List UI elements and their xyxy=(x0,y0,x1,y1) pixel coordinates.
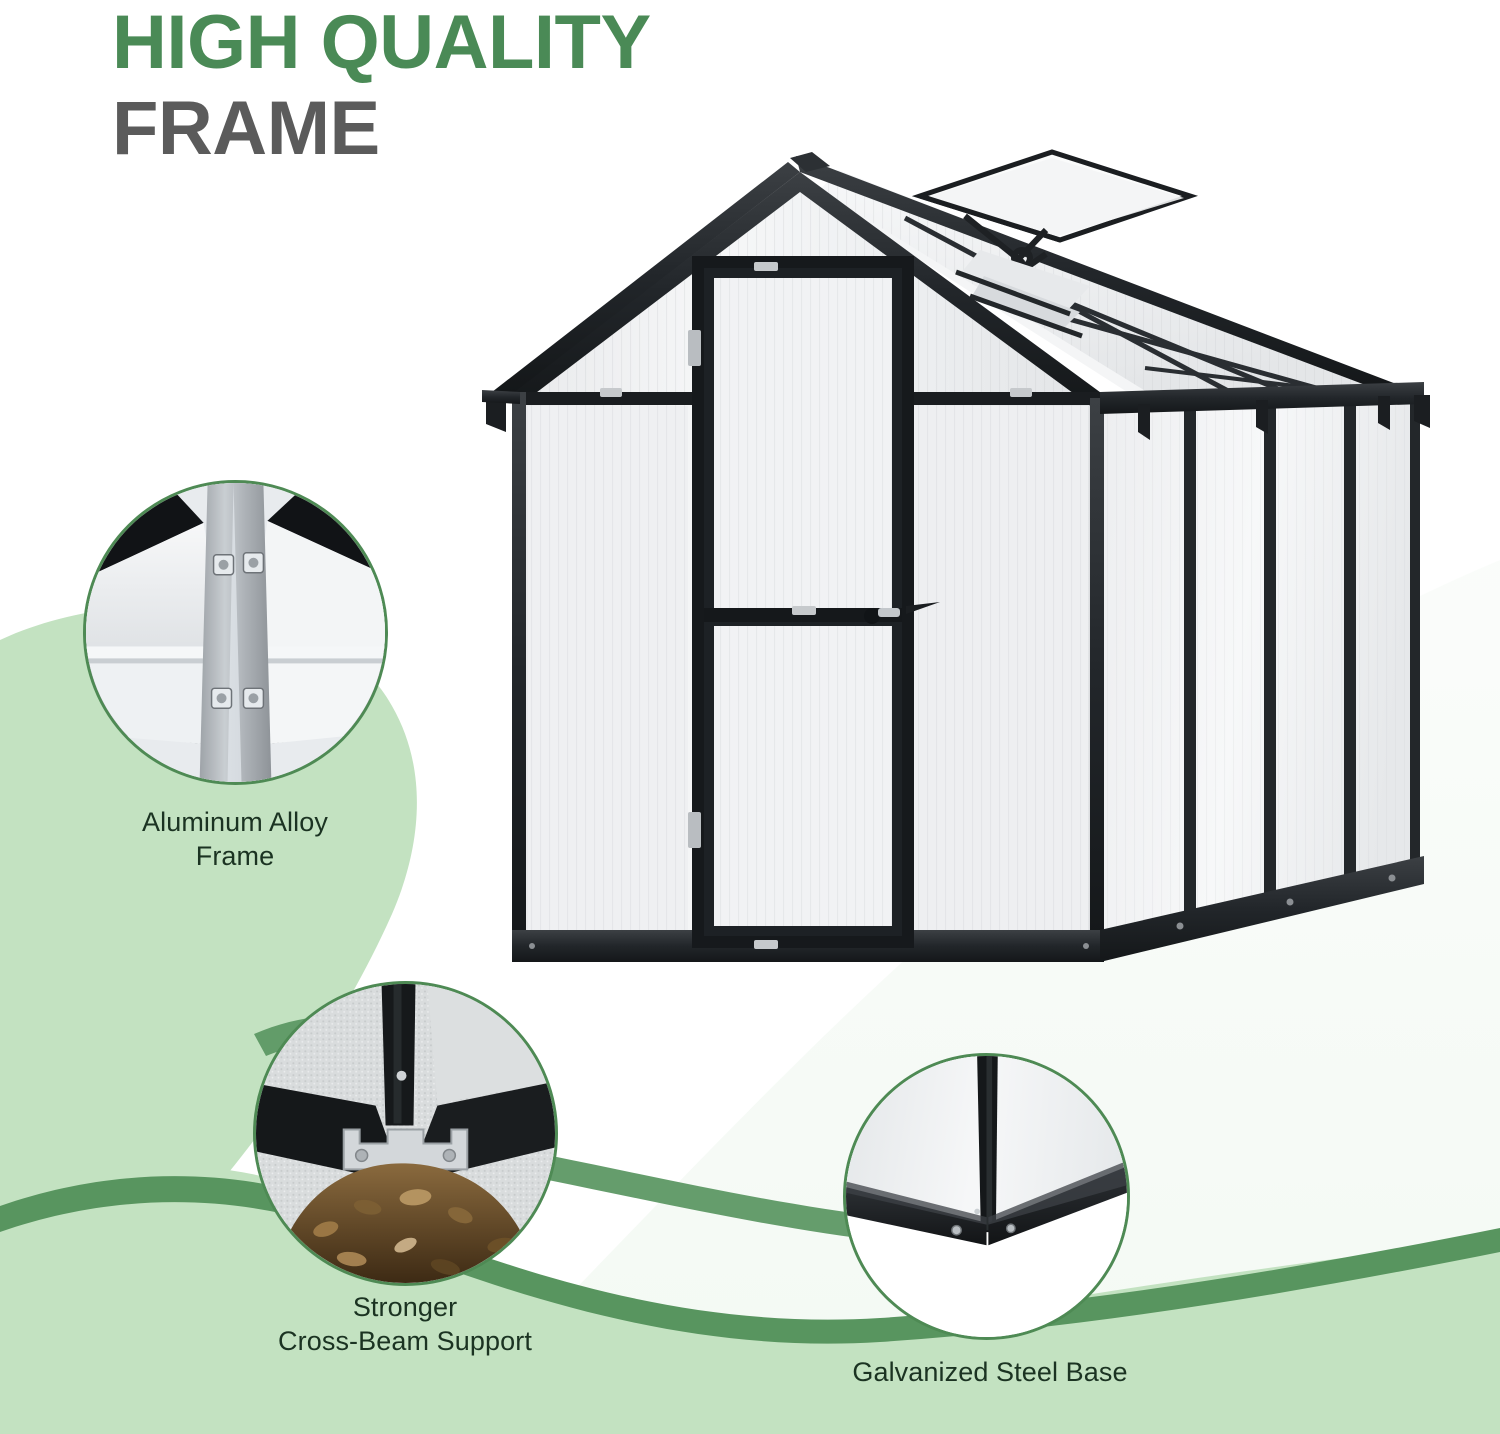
door-hinge-bottom xyxy=(688,812,701,848)
callout-caption-beam: Stronger Cross-Beam Support xyxy=(150,1290,660,1358)
aluminum-frame-detail-art xyxy=(86,483,385,782)
callout-caption-base: Galvanized Steel Base xyxy=(720,1355,1260,1389)
callout-caption-frame: Aluminum Alloy Frame xyxy=(35,805,435,873)
cross-beam-support-detail-art xyxy=(256,984,555,1283)
callout-bubble-base xyxy=(843,1053,1130,1340)
headline-line-1: HIGH QUALITY xyxy=(112,0,651,80)
door-hinge-top xyxy=(688,330,701,366)
headline: HIGH QUALITY FRAME xyxy=(112,0,651,167)
product-feature-image: HIGH QUALITY FRAME xyxy=(0,0,1500,1434)
callout-bubble-beam xyxy=(253,981,558,1286)
side-wall xyxy=(1100,382,1430,962)
galvanized-steel-base-detail-art xyxy=(846,1056,1127,1337)
greenhouse-door[interactable] xyxy=(688,256,940,949)
headline-line-2: FRAME xyxy=(112,80,651,166)
greenhouse-body xyxy=(482,152,1430,962)
callout-bubble-frame xyxy=(83,480,388,785)
